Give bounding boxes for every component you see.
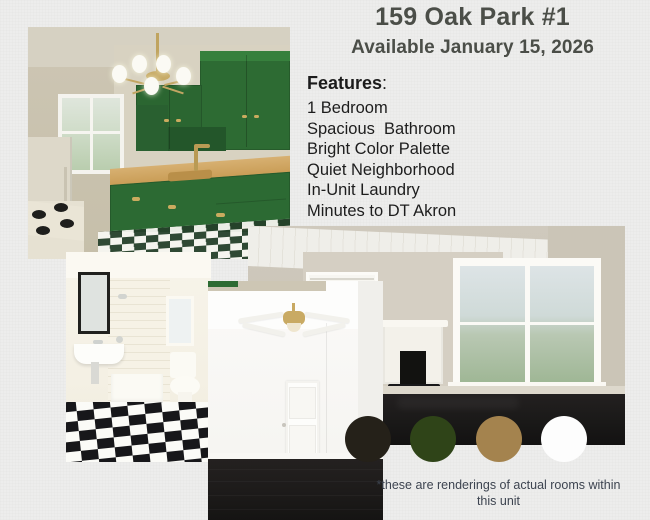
color-palette <box>345 416 605 464</box>
color-swatch-charcoal-black <box>345 416 391 462</box>
rendering-disclaimer: *these are renderings of actual rooms wi… <box>372 477 625 509</box>
color-swatch-white <box>541 416 587 462</box>
photo-kitchen <box>28 27 290 259</box>
features-heading-colon: : <box>382 73 387 93</box>
features-heading: Features: <box>307 73 387 94</box>
photo-bedroom <box>208 281 383 520</box>
list-item: Minutes to DT Akron <box>307 201 456 222</box>
flyer-canvas: 159 Oak Park #1 Available January 15, 20… <box>0 0 650 520</box>
availability-subtitle: Available January 15, 2026 <box>300 38 645 59</box>
list-item: In-Unit Laundry <box>307 180 456 201</box>
list-item: Spacious Bathroom <box>307 119 456 140</box>
disclaimer-line-1: *these are renderings of actual rooms <box>377 478 585 492</box>
color-swatch-camel-tan <box>476 416 522 462</box>
photo-bathroom <box>66 252 211 462</box>
features-heading-text: Features <box>307 73 382 93</box>
list-item: 1 Bedroom <box>307 98 456 119</box>
list-item: Bright Color Palette <box>307 139 456 160</box>
features-list: 1 Bedroom Spacious Bathroom Bright Color… <box>307 98 456 222</box>
page-title: 159 Oak Park #1 <box>300 4 645 32</box>
list-item: Quiet Neighborhood <box>307 160 456 181</box>
color-swatch-forest-green <box>410 416 456 462</box>
